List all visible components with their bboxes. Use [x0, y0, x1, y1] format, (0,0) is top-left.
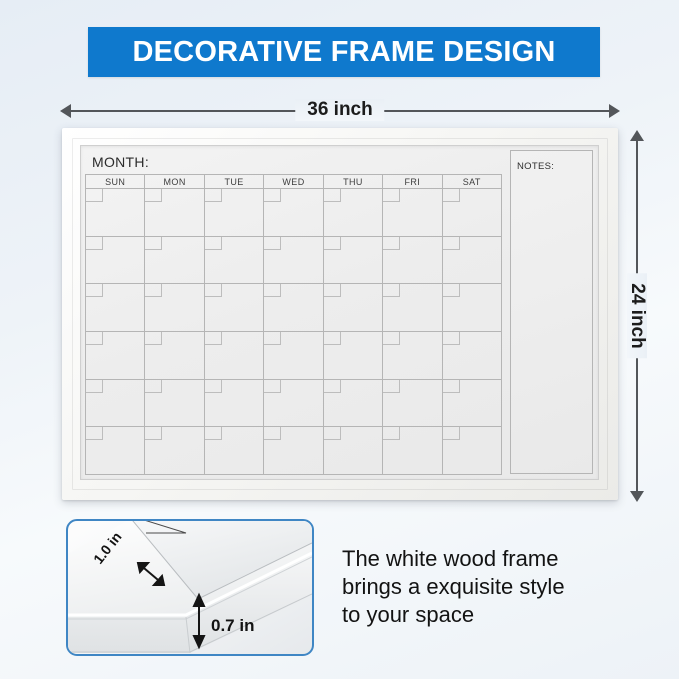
calendar-section: MONTH: SUNMONTUEWEDTHUFRISAT [81, 146, 506, 479]
calendar-date-box [86, 284, 103, 297]
calendar-date-box [324, 189, 341, 202]
day-header-mon: MON [145, 175, 204, 189]
calendar-date-box [145, 189, 162, 202]
calendar-cell[interactable] [86, 380, 145, 428]
calendar-cell[interactable] [264, 332, 323, 380]
calendar-cell[interactable] [145, 284, 204, 332]
calendar-cell[interactable] [383, 189, 442, 237]
month-label: MONTH: [92, 154, 149, 170]
calendar-cell[interactable] [324, 237, 383, 285]
width-dimension-label: 36 inch [295, 99, 384, 121]
calendar-date-box [205, 332, 222, 345]
calendar-cell[interactable] [145, 237, 204, 285]
day-header-sun: SUN [86, 175, 145, 189]
calendar-cell[interactable] [86, 284, 145, 332]
calendar-cell[interactable] [205, 237, 264, 285]
thickness-label: 0.7 in [211, 616, 254, 636]
notes-label: NOTES: [517, 161, 554, 172]
calendar-cell[interactable] [383, 332, 442, 380]
calendar-cell[interactable] [383, 237, 442, 285]
calendar-cell[interactable] [145, 380, 204, 428]
calendar-date-box [205, 284, 222, 297]
calendar-date-box [86, 380, 103, 393]
calendar-date-box [383, 332, 400, 345]
calendar-cell[interactable] [443, 380, 502, 428]
calendar-date-box [383, 237, 400, 250]
day-header-tue: TUE [205, 175, 264, 189]
calendar-cell[interactable] [383, 380, 442, 428]
calendar-grid [85, 189, 502, 475]
calendar-date-box [205, 427, 222, 440]
calendar-date-box [145, 427, 162, 440]
calendar-date-box [443, 332, 460, 345]
calendar-cell[interactable] [86, 189, 145, 237]
calendar-date-box [264, 189, 281, 202]
calendar-date-box [145, 237, 162, 250]
header-banner: DECORATIVE FRAME DESIGN [88, 27, 600, 77]
calendar-cell[interactable] [145, 427, 204, 475]
calendar-date-box [264, 332, 281, 345]
caption-line-2: brings a exquisite style [342, 573, 642, 601]
calendar-cell[interactable] [324, 189, 383, 237]
calendar-cell[interactable] [443, 332, 502, 380]
calendar-date-box [86, 237, 103, 250]
caption-line-3: to your space [342, 601, 642, 629]
calendar-date-box [324, 427, 341, 440]
calendar-cell[interactable] [264, 284, 323, 332]
calendar-cell[interactable] [324, 427, 383, 475]
calendar-date-box [443, 189, 460, 202]
month-row: MONTH: [85, 149, 502, 174]
day-header-wed: WED [264, 175, 323, 189]
caption-line-1: The white wood frame [342, 545, 642, 573]
calendar-date-box [443, 237, 460, 250]
calendar-cell[interactable] [205, 332, 264, 380]
width-dimension-indicator: 36 inch [60, 100, 620, 122]
calendar-cell[interactable] [86, 427, 145, 475]
calendar-date-box [86, 332, 103, 345]
calendar-cell[interactable] [264, 237, 323, 285]
calendar-date-box [324, 380, 341, 393]
calendar-cell[interactable] [324, 380, 383, 428]
calendar-date-box [443, 284, 460, 297]
notes-section: NOTES: [506, 146, 598, 479]
day-header-thu: THU [324, 175, 383, 189]
calendar-date-box [205, 237, 222, 250]
calendar-date-box [324, 237, 341, 250]
calendar-cell[interactable] [205, 380, 264, 428]
calendar-date-box [86, 427, 103, 440]
calendar-date-box [383, 189, 400, 202]
caption-block: The white wood frame brings a exquisite … [342, 545, 642, 629]
calendar-date-box [383, 284, 400, 297]
calendar-date-box [324, 284, 341, 297]
calendar-cell[interactable] [145, 189, 204, 237]
calendar-date-box [264, 237, 281, 250]
calendar-date-box [383, 380, 400, 393]
calendar-date-box [145, 380, 162, 393]
day-header-row: SUNMONTUEWEDTHUFRISAT [85, 174, 502, 189]
calendar-cell[interactable] [443, 427, 502, 475]
calendar-date-box [205, 189, 222, 202]
calendar-cell[interactable] [86, 237, 145, 285]
calendar-cell[interactable] [443, 284, 502, 332]
calendar-date-box [383, 427, 400, 440]
notes-panel: NOTES: [510, 150, 593, 474]
day-header-sat: SAT [443, 175, 502, 189]
calendar-cell[interactable] [264, 189, 323, 237]
calendar-date-box [264, 380, 281, 393]
arrow-down-icon [630, 491, 644, 502]
calendar-cell[interactable] [443, 189, 502, 237]
calendar-cell[interactable] [443, 237, 502, 285]
calendar-cell[interactable] [264, 380, 323, 428]
calendar-date-box [205, 380, 222, 393]
whiteboard-surface: MONTH: SUNMONTUEWEDTHUFRISAT NOTES: [80, 145, 599, 480]
calendar-cell[interactable] [205, 427, 264, 475]
calendar-cell[interactable] [205, 284, 264, 332]
frame-detail-inset: 1.0 in 0.7 in [66, 519, 314, 656]
height-dimension-label: 24 inch [627, 273, 647, 358]
arrow-right-icon [609, 104, 620, 118]
calendar-cell[interactable] [264, 427, 323, 475]
header-banner-title: DECORATIVE FRAME DESIGN [133, 36, 556, 69]
whiteboard-frame: MONTH: SUNMONTUEWEDTHUFRISAT NOTES: [62, 128, 618, 500]
calendar-date-box [86, 189, 103, 202]
calendar-cell[interactable] [383, 427, 442, 475]
calendar-cell[interactable] [383, 284, 442, 332]
calendar-date-box [145, 284, 162, 297]
calendar-date-box [264, 284, 281, 297]
calendar-date-box [443, 427, 460, 440]
day-header-fri: FRI [383, 175, 442, 189]
calendar-date-box [443, 380, 460, 393]
height-dimension-indicator: 24 inch [626, 130, 648, 502]
calendar-date-box [145, 332, 162, 345]
calendar-cell[interactable] [324, 284, 383, 332]
calendar-cell[interactable] [86, 332, 145, 380]
calendar-cell[interactable] [205, 189, 264, 237]
calendar-date-box [264, 427, 281, 440]
calendar-cell[interactable] [145, 332, 204, 380]
calendar-date-box [324, 332, 341, 345]
calendar-cell[interactable] [324, 332, 383, 380]
